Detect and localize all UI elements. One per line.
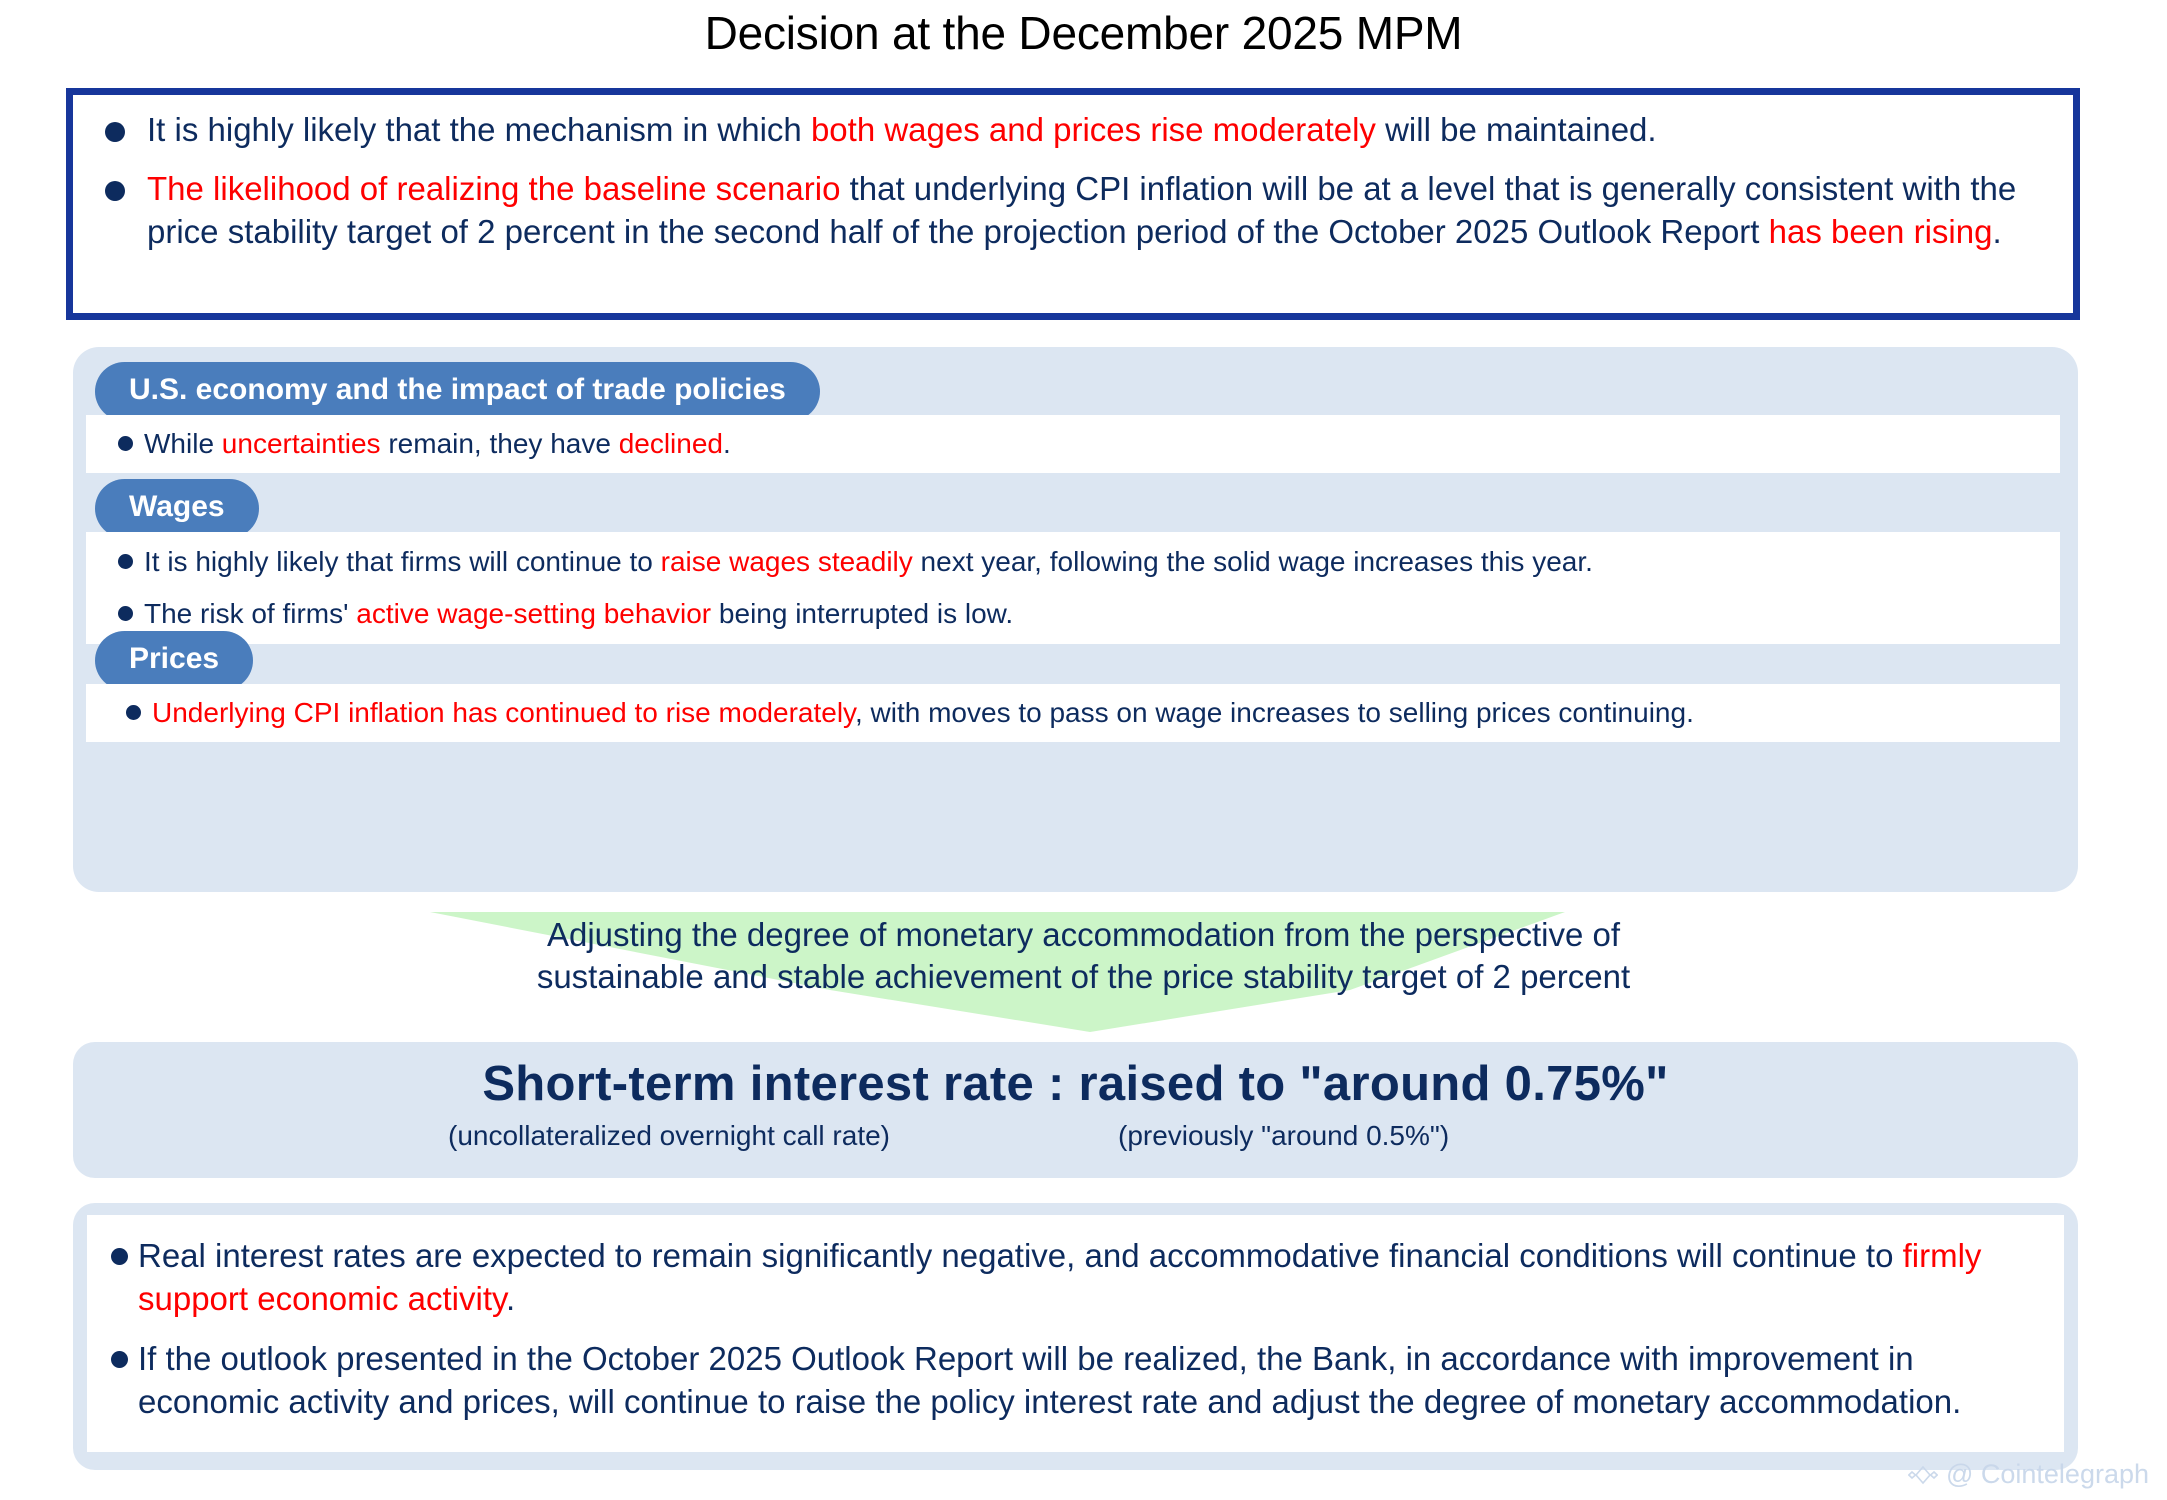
list-item: Real interest rates are expected to rema… bbox=[111, 1235, 2030, 1321]
guidance-box: Real interest rates are expected to rema… bbox=[73, 1203, 2078, 1470]
assessment-panel: U.S. economy and the impact of trade pol… bbox=[73, 347, 2078, 892]
section-content-us-economy: While uncertainties remain, they have de… bbox=[86, 415, 2060, 473]
text-run: It is highly likely that firms will cont… bbox=[144, 546, 661, 577]
policy-rate-subtitles: (uncollateralized overnight call rate) (… bbox=[73, 1120, 2078, 1154]
policy-rate-headline: Short-term interest rate : raised to "ar… bbox=[73, 1058, 2078, 1112]
text-run: The risk of firms' bbox=[144, 598, 356, 629]
bullet-dot-icon bbox=[118, 554, 133, 569]
text-run: It is highly likely that the mechanism i… bbox=[147, 111, 811, 148]
bullet-dot-icon bbox=[105, 122, 125, 142]
guidance-bullet-2-text: If the outlook presented in the October … bbox=[138, 1338, 2030, 1424]
section-label-us-economy: U.S. economy and the impact of trade pol… bbox=[95, 362, 820, 421]
bullet-dot-icon bbox=[126, 705, 141, 720]
text-run: both wages and prices rise moderately bbox=[811, 111, 1376, 148]
top-bullet-2: The likelihood of realizing the baseline… bbox=[73, 168, 2073, 254]
arrow-caption-line-2: sustainable and stable achievement of th… bbox=[0, 956, 2167, 998]
arrow-caption: Adjusting the degree of monetary accommo… bbox=[0, 914, 2167, 998]
top-bullet-1: It is highly likely that the mechanism i… bbox=[73, 109, 2073, 152]
text-run: active wage-setting behavior bbox=[356, 598, 711, 629]
section-content-wages: It is highly likely that firms will cont… bbox=[86, 532, 2060, 644]
text-run: Real interest rates are expected to rema… bbox=[138, 1237, 1903, 1274]
text-run: has been rising bbox=[1769, 213, 1993, 250]
policy-rate-sub-left: (uncollateralized overnight call rate) bbox=[448, 1120, 890, 1152]
arrow-caption-line-1: Adjusting the degree of monetary accommo… bbox=[0, 914, 2167, 956]
text-run: remain, they have bbox=[381, 428, 619, 459]
wages-bullet-2-text: The risk of firms' active wage-setting b… bbox=[144, 596, 1013, 632]
prices-bullet-1-text: Underlying CPI inflation has continued t… bbox=[152, 695, 1694, 731]
text-run: Underlying CPI inflation has continued t… bbox=[152, 697, 855, 728]
slide-root: Decision at the December 2025 MPM It is … bbox=[0, 0, 2167, 1500]
text-run: The likelihood of realizing the baseline… bbox=[147, 170, 840, 207]
list-item: If the outlook presented in the October … bbox=[111, 1338, 2030, 1424]
policy-rate-sub-right: (previously "around 0.5%") bbox=[1118, 1120, 1449, 1152]
list-item: The risk of firms' active wage-setting b… bbox=[118, 596, 2060, 632]
bullet-dot-icon bbox=[111, 1248, 128, 1265]
text-run: will be maintained. bbox=[1376, 111, 1657, 148]
top-bullet-2-text: The likelihood of realizing the baseline… bbox=[147, 168, 2073, 254]
wages-bullet-1-text: It is highly likely that firms will cont… bbox=[144, 544, 1593, 580]
text-run: . bbox=[1992, 213, 2001, 250]
top-bullet-1-text: It is highly likely that the mechanism i… bbox=[147, 109, 2073, 152]
guidance-content: Real interest rates are expected to rema… bbox=[87, 1215, 2064, 1452]
bullet-dot-icon bbox=[118, 606, 133, 621]
list-item: While uncertainties remain, they have de… bbox=[118, 426, 2060, 462]
text-run: declined bbox=[619, 428, 723, 459]
list-item: It is highly likely that firms will cont… bbox=[118, 544, 2060, 580]
guidance-bullet-1-text: Real interest rates are expected to rema… bbox=[138, 1235, 2030, 1321]
bullet-dot-icon bbox=[105, 181, 125, 201]
section-label-prices: Prices bbox=[95, 631, 253, 690]
list-item: Underlying CPI inflation has continued t… bbox=[126, 695, 2060, 731]
bullet-dot-icon bbox=[118, 436, 133, 451]
decision-summary-box: It is highly likely that the mechanism i… bbox=[66, 88, 2080, 320]
transition-arrow-group: Adjusting the degree of monetary accommo… bbox=[0, 900, 2167, 1050]
text-run: , with moves to pass on wage increases t… bbox=[855, 697, 1694, 728]
bullet-dot-icon bbox=[111, 1351, 128, 1368]
text-run: While bbox=[144, 428, 222, 459]
text-run: raise wages steadily bbox=[661, 546, 913, 577]
text-run: next year, following the solid wage incr… bbox=[913, 546, 1593, 577]
section-content-prices: Underlying CPI inflation has continued t… bbox=[86, 684, 2060, 742]
text-run: . bbox=[723, 428, 731, 459]
us-economy-bullet-1-text: While uncertainties remain, they have de… bbox=[144, 426, 731, 462]
policy-rate-box: Short-term interest rate : raised to "ar… bbox=[73, 1042, 2078, 1178]
text-run: If the outlook presented in the October … bbox=[138, 1340, 1961, 1420]
section-label-wages: Wages bbox=[95, 479, 259, 538]
text-run: being interrupted is low. bbox=[711, 598, 1013, 629]
page-title: Decision at the December 2025 MPM bbox=[0, 6, 2167, 60]
text-run: uncertainties bbox=[222, 428, 381, 459]
text-run: . bbox=[506, 1280, 515, 1317]
